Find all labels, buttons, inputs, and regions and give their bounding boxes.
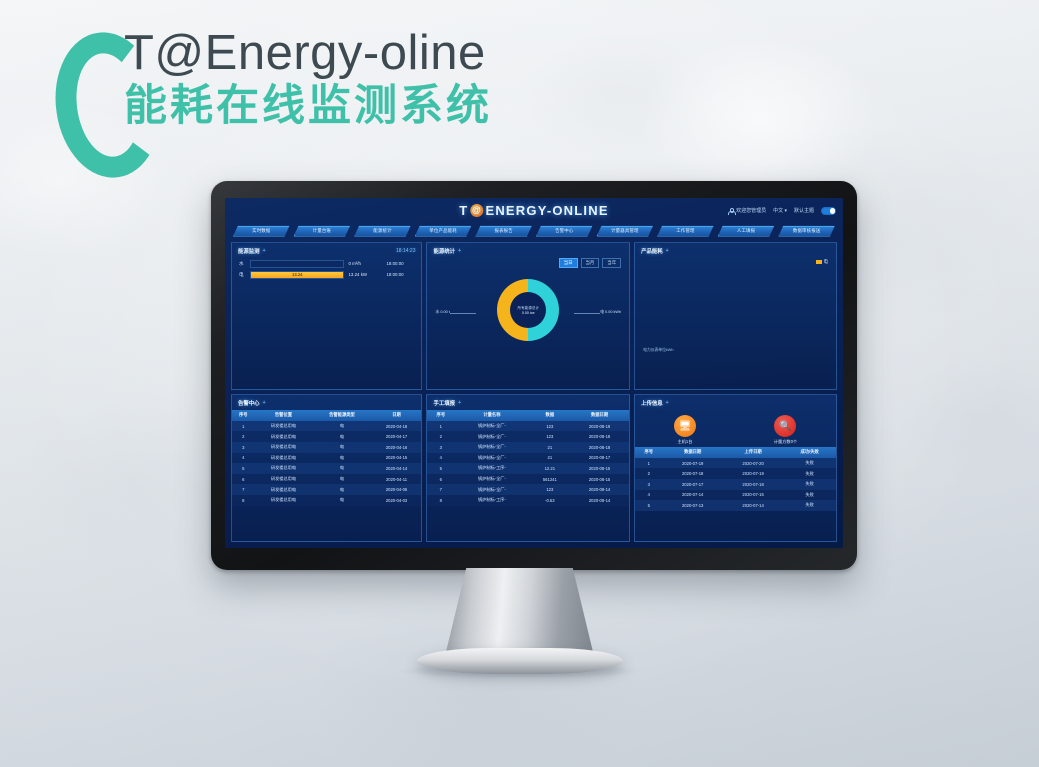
cell-date: 2020-04-11	[372, 474, 422, 485]
nav-item-3[interactable]: 单位产品能耗	[415, 226, 472, 237]
product-expand-icon[interactable]: +	[666, 248, 669, 254]
panel-title-manual: 手工填报 +	[427, 395, 629, 410]
badge-host[interactable]: 🖥 主机1台	[674, 415, 696, 445]
manual-col-0: 序号	[427, 410, 454, 421]
dashboard-grid: 能源监测 + 18:14:23 水 0 m³/h 18:00:00	[225, 238, 843, 548]
table-row[interactable]: 3 研发楼总用电 电 2020-04-16	[232, 442, 421, 453]
cell-type: 电	[312, 453, 371, 464]
stats-title-text: 能源统计	[433, 247, 455, 255]
manual-expand-icon[interactable]: +	[458, 400, 461, 406]
panel-realtime-monitor: 能源监测 + 18:14:23 水 0 m³/h 18:00:00	[231, 242, 422, 390]
cell-location: 研发楼总用电	[255, 453, 313, 464]
cell-data-date: 2020-07-17	[662, 479, 722, 490]
table-row[interactable]: 4 研发楼总用电 电 2020-04-15	[232, 453, 421, 464]
theme-toggle-label: 默认主题	[794, 207, 814, 214]
cell-index: 6	[427, 474, 454, 485]
cell-value: 12.21	[530, 463, 570, 474]
panel-alarm-center: 告警中心 + 序号 告警位置 告警能源类型 日期	[231, 394, 422, 542]
cell-location: 研发楼总用电	[255, 495, 313, 506]
cell-date: 2020-08-19	[570, 421, 629, 432]
cell-data-date: 2020-07-14	[662, 490, 722, 501]
upload-badges: 🖥 主机1台 🔍 计量方数0个	[635, 410, 836, 447]
table-row[interactable]: 5 研发楼总用电 电 2020-04-14	[232, 463, 421, 474]
table-row[interactable]: 4 锅炉制标-全厂- 21 2020-08-17	[427, 453, 629, 464]
monitor-base	[417, 648, 623, 674]
brand-right: ENERGY-ONLINE	[485, 203, 608, 218]
cell-index: 4	[232, 453, 255, 464]
cell-index: 7	[427, 484, 454, 495]
table-row[interactable]: 2 锅炉制标-全厂- 123 2020-08-18	[427, 431, 629, 442]
cell-date: 2020-08-17	[570, 453, 629, 464]
cell-index: 1	[635, 458, 662, 469]
panel-title-alarm: 告警中心 +	[232, 395, 421, 410]
cell-index: 8	[232, 495, 255, 506]
upload-col-0: 序号	[635, 447, 662, 458]
stats-expand-icon[interactable]: +	[458, 248, 461, 254]
table-row[interactable]: 7 锅炉制标-全厂- 123 2020-08-14	[427, 484, 629, 495]
cell-location: 研发楼总用电	[255, 474, 313, 485]
cell-type: 电	[312, 442, 371, 453]
manual-table-body: 1 锅炉制标-全厂- 123 2020-08-19 2 锅炉制标-全厂- 123	[427, 421, 629, 506]
row-bar-power: 13.24	[250, 271, 344, 279]
monitor: T @ ENERGY-ONLINE 欢迎您管理员 中文 ▾ 默认主题	[211, 181, 857, 570]
table-row[interactable]: 5 锅炉制标-工序- 12.21 2020-08-15	[427, 463, 629, 474]
legend-swatch-power	[816, 260, 822, 264]
column-left: 能源监测 + 18:14:23 水 0 m³/h 18:00:00	[231, 242, 422, 542]
cell-date: 2020-04-16	[372, 442, 422, 453]
cell-upload-date: 2020-07-19	[723, 468, 783, 479]
panel-title-product: 产品能耗 +	[635, 243, 836, 258]
upload-title-text: 上传信息	[641, 399, 663, 407]
tab-today[interactable]: 当日	[559, 258, 578, 268]
cell-date: 2020-08-18	[570, 431, 629, 442]
theme-toggle[interactable]	[821, 207, 836, 215]
cell-location: 研发楼总用电	[255, 431, 313, 442]
cell-type: 电	[312, 431, 371, 442]
realtime-time: 18:14:23	[396, 248, 415, 254]
product-title-text: 产品能耗	[641, 247, 663, 255]
poster-title-en: T@Energy-oline	[124, 26, 492, 81]
alarm-header-row: 序号 告警位置 告警能源类型 日期	[232, 410, 421, 421]
cell-meter: 锅炉制标-工序-	[454, 495, 529, 506]
cell-value: 123	[530, 421, 570, 432]
cell-meter: 锅炉制标-全厂-	[454, 421, 529, 432]
table-row[interactable]: 5 2020-07-13 2020-07-14 失败	[635, 500, 836, 511]
realtime-expand-icon[interactable]: +	[263, 248, 266, 254]
row-time-water: 18:00:00	[386, 261, 414, 266]
cell-value: 561241	[530, 474, 570, 485]
donut-center-label: 所有能源总计 0.00 tce	[497, 279, 559, 341]
cell-upload-date: 2020-07-14	[723, 500, 783, 511]
cell-type: 电	[312, 421, 371, 432]
cell-value: -0.53	[530, 495, 570, 506]
cell-index: 5	[635, 500, 662, 511]
column-middle: 能源统计 + 当日 当月 当年 水 0.00 t	[426, 242, 630, 542]
cell-meter: 锅炉制标-全厂-	[454, 453, 529, 464]
status-badge: 失败	[783, 468, 836, 479]
upload-header-row: 序号 数据日期 上传日期 成功/失败	[635, 447, 836, 458]
table-row[interactable]: 6 研发楼总用电 电 2020-04-11	[232, 474, 421, 485]
user-name: 欢迎您管理员	[736, 207, 766, 214]
cell-type: 电	[312, 495, 371, 506]
poster-title-cn: 能耗在线监测系统	[124, 83, 492, 130]
panel-title-realtime: 能源监测 + 18:14:23	[232, 243, 421, 258]
cell-type: 电	[312, 463, 371, 474]
status-badge: 失败	[783, 458, 836, 469]
badge-meter[interactable]: 🔍 计量方数0个	[774, 415, 797, 445]
cell-type: 电	[312, 484, 371, 495]
monitor-screen: T @ ENERGY-ONLINE 欢迎您管理员 中文 ▾ 默认主题	[225, 198, 843, 548]
host-monitor-icon: 🖥	[674, 415, 696, 437]
cell-meter: 锅炉制标-全厂-	[454, 484, 529, 495]
app-header: T @ ENERGY-ONLINE 欢迎您管理员 中文 ▾ 默认主题	[225, 198, 843, 224]
stats-donut-chart: 水 0.00 t 所有能源总计 0.00 tce 电 0.00 kWh	[427, 268, 629, 352]
row-time-power: 18:00:00	[386, 272, 414, 277]
nav-item-1[interactable]: 计量台账	[294, 226, 351, 237]
stats-period-tabs: 当日 当月 当年	[427, 258, 629, 268]
manual-col-3: 数据日期	[570, 410, 629, 421]
upload-expand-icon[interactable]: +	[666, 400, 669, 406]
nav-item-2[interactable]: 能源统计	[354, 226, 411, 237]
cell-value: 21	[530, 453, 570, 464]
row-value-water: 0 m³/h	[348, 261, 382, 266]
donut-ring: 所有能源总计 0.00 tce	[497, 279, 559, 341]
cell-index: 1	[427, 421, 454, 432]
legend-label-power: 电	[824, 259, 828, 265]
alarm-col-1: 告警位置	[255, 410, 313, 421]
nav-item-6[interactable]: 计量器具管理	[597, 226, 654, 237]
status-badge: 失败	[783, 479, 836, 490]
poster-title-block: T@Energy-oline 能耗在线监测系统	[56, 24, 492, 136]
cell-location: 研发楼总用电	[255, 484, 313, 495]
meter-search-icon: 🔍	[774, 415, 796, 437]
cell-upload-date: 2020-07-18	[723, 479, 783, 490]
realtime-row-water: 水 0 m³/h 18:00:00	[232, 258, 421, 269]
table-row[interactable]: 6 锅炉制标-全厂- 561241 2020-08-15	[427, 474, 629, 485]
table-row[interactable]: 8 研发楼总用电 电 2020-04-03	[232, 495, 421, 506]
product-axis-note: 电力仪表单位kWh	[643, 348, 673, 353]
cell-index: 4	[427, 453, 454, 464]
cell-meter: 锅炉制标-全厂-	[454, 442, 529, 453]
table-row[interactable]: 3 2020-07-17 2020-07-18 失败	[635, 479, 836, 490]
panel-upload-info: 上传信息 + 🖥 主机1台 🔍 计量方数0个	[634, 394, 837, 542]
cell-index: 5	[427, 463, 454, 474]
table-row[interactable]: 1 2020-07-19 2020-07-20 失败	[635, 458, 836, 469]
cell-index: 2	[427, 431, 454, 442]
cell-type: 电	[312, 474, 371, 485]
table-row[interactable]: 2 研发楼总用电 电 2020-04-17	[232, 431, 421, 442]
cell-index: 3	[232, 442, 255, 453]
app-brand: T @ ENERGY-ONLINE	[459, 203, 608, 218]
upload-table-body: 1 2020-07-19 2020-07-20 失败 2 2020-07-18 …	[635, 458, 836, 511]
row-value-power: 13.24 kW	[348, 272, 382, 277]
cell-data-date: 2020-07-13	[662, 500, 722, 511]
cell-meter: 锅炉制标-全厂-	[454, 431, 529, 442]
alarm-col-3: 日期	[372, 410, 422, 421]
dashboard-app: T @ ENERGY-ONLINE 欢迎您管理员 中文 ▾ 默认主题	[225, 198, 843, 548]
status-badge: 失败	[783, 490, 836, 501]
cell-meter: 锅炉制标-全厂-	[454, 474, 529, 485]
product-legend: 电	[635, 258, 836, 266]
nav-item-9[interactable]: 数据审核报送	[778, 226, 835, 237]
monitor-bezel: T @ ENERGY-ONLINE 欢迎您管理员 中文 ▾ 默认主题	[211, 181, 857, 570]
badge-host-label: 主机1台	[678, 439, 693, 445]
table-row[interactable]: 4 2020-07-14 2020-07-15 失败	[635, 490, 836, 501]
cell-location: 研发楼总用电	[255, 421, 313, 432]
column-right: 产品能耗 + 电 电力仪表单位kWh 上传信息	[634, 242, 837, 542]
cell-upload-date: 2020-07-20	[723, 458, 783, 469]
nav-item-0[interactable]: 实时数据	[233, 226, 290, 237]
cell-date: 2020-08-14	[570, 484, 629, 495]
cell-index: 2	[232, 431, 255, 442]
cell-index: 2	[635, 468, 662, 479]
nav-item-4[interactable]: 报表报告	[475, 226, 532, 237]
cell-date: 2020-04-03	[372, 495, 422, 506]
manual-header-row: 序号 计量名称 数据 数据日期	[427, 410, 629, 421]
row-bar-fill-power: 13.24	[251, 272, 343, 278]
manual-col-2: 数据	[530, 410, 570, 421]
tab-year[interactable]: 当年	[602, 258, 621, 268]
table-row[interactable]: 7 研发楼总用电 电 2020-04-05	[232, 484, 421, 495]
manual-table: 序号 计量名称 数据 数据日期 1 锅炉制标-全厂- 123	[427, 410, 629, 506]
nav-item-5[interactable]: 告警中心	[536, 226, 593, 237]
brand-at-icon: @	[470, 204, 483, 217]
alarm-table: 序号 告警位置 告警能源类型 日期 1 研发楼总用电 电	[232, 410, 421, 506]
table-row[interactable]: 8 锅炉制标-工序- -0.53 2020-08-14	[427, 495, 629, 506]
cell-index: 3	[635, 479, 662, 490]
cell-value: 123	[530, 484, 570, 495]
upload-col-2: 上传日期	[723, 447, 783, 458]
cell-date: 2020-08-18	[570, 442, 629, 453]
nav-item-7[interactable]: 工作管理	[657, 226, 714, 237]
alarm-col-0: 序号	[232, 410, 255, 421]
upload-col-3: 成功/失败	[783, 447, 836, 458]
cell-date: 2020-04-17	[372, 431, 422, 442]
c-logo-icon	[56, 32, 118, 136]
cell-date: 2020-04-15	[372, 453, 422, 464]
realtime-title-text: 能源监测	[238, 247, 260, 255]
monitor-neck	[446, 568, 594, 654]
brand-left: T	[459, 203, 468, 218]
cell-date: 2020-08-14	[570, 495, 629, 506]
table-row[interactable]: 1 研发楼总用电 电 2020-04-18	[232, 421, 421, 432]
table-row[interactable]: 3 锅炉制标-全厂- 21 2020-08-18	[427, 442, 629, 453]
alarm-table-body: 1 研发楼总用电 电 2020-04-18 2 研发楼总用电 电	[232, 421, 421, 506]
row-bar-water	[250, 260, 344, 268]
cell-index: 8	[427, 495, 454, 506]
panel-energy-stats: 能源统计 + 当日 当月 当年 水 0.00 t	[426, 242, 630, 390]
donut-center-line2: 0.00 tce	[522, 311, 535, 315]
cell-meter: 锅炉制标-工序-	[454, 463, 529, 474]
table-row[interactable]: 1 锅炉制标-全厂- 123 2020-08-19	[427, 421, 629, 432]
cell-index: 5	[232, 463, 255, 474]
cell-date: 2020-04-05	[372, 484, 422, 495]
person-icon	[728, 208, 734, 214]
cell-data-date: 2020-07-18	[662, 468, 722, 479]
cell-value: 123	[530, 431, 570, 442]
cell-index: 6	[232, 474, 255, 485]
manual-col-1: 计量名称	[454, 410, 529, 421]
panel-product-energy: 产品能耗 + 电 电力仪表单位kWh	[634, 242, 837, 390]
cell-location: 研发楼总用电	[255, 463, 313, 474]
user-menu[interactable]: 欢迎您管理员	[728, 207, 766, 214]
cell-date: 2020-08-15	[570, 474, 629, 485]
realtime-row-power: 电 13.24 13.24 kW 18:00:00	[232, 269, 421, 280]
upload-col-1: 数据日期	[662, 447, 722, 458]
alarm-expand-icon[interactable]: +	[263, 400, 266, 406]
cell-index: 3	[427, 442, 454, 453]
panel-title-upload: 上传信息 +	[635, 395, 836, 410]
donut-label-right: 电 0.00 kWh	[600, 310, 621, 315]
cell-date: 2020-08-15	[570, 463, 629, 474]
cell-date: 2020-04-14	[372, 463, 422, 474]
cell-location: 研发楼总用电	[255, 442, 313, 453]
donut-label-left: 水 0.00 t	[435, 310, 449, 315]
panel-manual-entry: 手工填报 + 序号 计量名称 数据 数据日期	[426, 394, 630, 542]
badge-meter-label: 计量方数0个	[774, 439, 797, 445]
cell-index: 7	[232, 484, 255, 495]
row-label-water: 水	[239, 261, 246, 267]
row-bar-text-power: 13.24	[292, 272, 302, 277]
manual-title-text: 手工填报	[433, 399, 455, 407]
row-label-power: 电	[239, 272, 246, 278]
language-selector[interactable]: 中文 ▾	[773, 207, 787, 214]
cell-value: 21	[530, 442, 570, 453]
cell-upload-date: 2020-07-15	[723, 490, 783, 501]
cell-date: 2020-04-18	[372, 421, 422, 432]
main-nav: 实时数据 计量台账 能源统计 单位产品能耗 报表报告 告警中心 计量器具管理 工…	[225, 224, 843, 238]
header-right-tools: 欢迎您管理员 中文 ▾ 默认主题	[728, 207, 836, 215]
panel-title-stats: 能源统计 +	[427, 243, 629, 258]
upload-table: 序号 数据日期 上传日期 成功/失败 1 2020-07-19 2	[635, 447, 836, 511]
cell-index: 4	[635, 490, 662, 501]
status-badge: 失败	[783, 500, 836, 511]
cell-data-date: 2020-07-19	[662, 458, 722, 469]
table-row[interactable]: 2 2020-07-18 2020-07-19 失败	[635, 468, 836, 479]
cell-index: 1	[232, 421, 255, 432]
nav-item-8[interactable]: 人工填报	[718, 226, 775, 237]
tab-month[interactable]: 当月	[581, 258, 600, 268]
alarm-title-text: 告警中心	[238, 399, 260, 407]
alarm-col-2: 告警能源类型	[312, 410, 371, 421]
